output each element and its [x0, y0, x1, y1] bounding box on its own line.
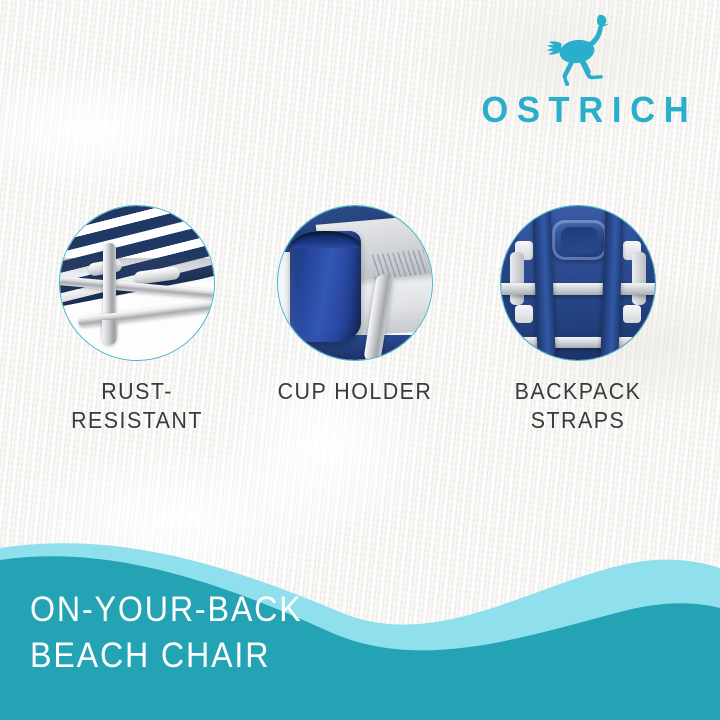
brand-wordmark: OSTRICH	[473, 92, 698, 128]
caption-line-2: RESISTANT	[44, 406, 230, 435]
product-title-line-1: ON-YOUR-BACK	[30, 587, 303, 633]
brand-logo: OSTRICH	[470, 12, 700, 130]
product-title-line-2: BEACH CHAIR	[30, 633, 303, 679]
caption-line-1: CUP HOLDER	[278, 378, 433, 404]
feature-item-cup-holder: CUP HOLDER	[255, 205, 455, 406]
wave-banner: ON-YOUR-BACK BEACH CHAIR	[0, 520, 720, 720]
feature-item-rust-resistant: RUST- RESISTANT	[37, 205, 237, 436]
chair-aluminium-frame-photo	[60, 206, 214, 360]
chair-backpack-straps-photo	[501, 206, 655, 360]
feature-caption-backpack-straps: BACKPACK STRAPS	[485, 377, 671, 436]
feature-list: RUST- RESISTANT	[0, 205, 720, 455]
caption-line-2: STRAPS	[485, 406, 671, 435]
ostrich-icon	[537, 12, 633, 88]
product-title: ON-YOUR-BACK BEACH CHAIR	[30, 587, 303, 678]
feature-circle-rust-resistant	[59, 205, 215, 361]
caption-line-1: RUST-	[101, 378, 173, 404]
feature-caption-cup-holder: CUP HOLDER	[262, 377, 448, 406]
feature-item-backpack-straps: BACKPACK STRAPS	[478, 205, 678, 436]
infographic-canvas: OSTRICH	[0, 0, 720, 720]
caption-line-1: BACKPACK	[515, 378, 642, 404]
chair-cup-holder-photo	[278, 206, 432, 360]
feature-circle-cup-holder	[277, 205, 433, 361]
feature-circle-backpack-straps	[500, 205, 656, 361]
feature-caption-rust-resistant: RUST- RESISTANT	[44, 377, 230, 436]
